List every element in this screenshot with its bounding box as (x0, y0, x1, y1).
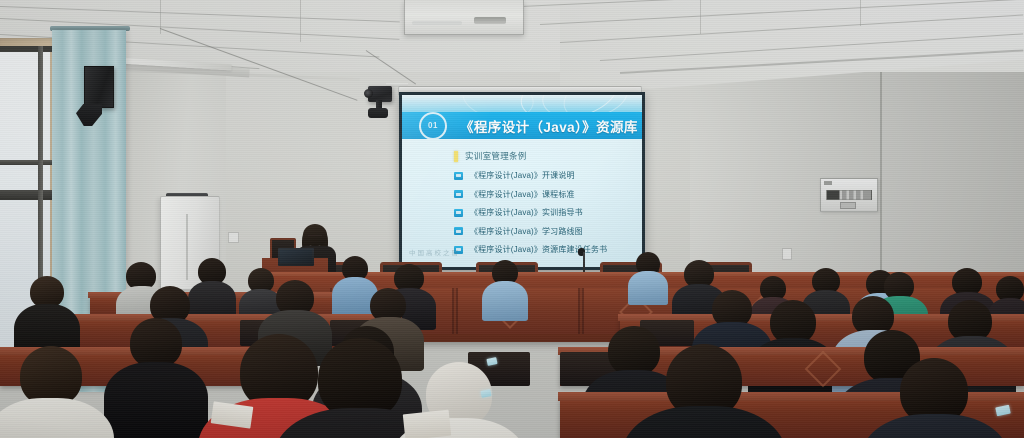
slide-bullet-label: 《程序设计(Java)》资源库建设任务书 (470, 244, 607, 255)
wall-outlet (782, 248, 792, 260)
slide-section-heading: 实训室管理条例 (465, 150, 527, 162)
person-head (130, 318, 182, 368)
window-mullion (0, 190, 54, 200)
panel-label (824, 181, 832, 185)
wall-speaker (84, 66, 114, 108)
ceiling-ac-unit (404, 0, 524, 35)
panel-button[interactable] (840, 202, 856, 209)
slide-bullet-item: 《程序设计(Java)》实训指导书 (454, 207, 642, 218)
ceiling-tile-line-vertical (300, 0, 301, 42)
slide-bullet-label: 《程序设计(Java)》实训指导书 (470, 207, 583, 218)
slide-bullet-item: 《程序设计(Java)》学习路线图 (454, 226, 642, 237)
slide-badge-number: 01 (428, 121, 438, 130)
laptop-screen (280, 250, 312, 263)
slide-swirl (557, 95, 642, 113)
slide-title-bar: 01 《程序设计（Java）》资源库 (402, 112, 642, 139)
slide-section-badge: 01 (419, 112, 447, 140)
slide-section-heading-row: 实训室管理条例 (454, 150, 642, 162)
floor-ac-seam (186, 214, 188, 280)
slide-title: 《程序设计（Java）》资源库 (460, 116, 638, 136)
slide-decorative-band (402, 95, 642, 113)
presenter-glasses-icon (308, 235, 322, 239)
window-sash (0, 46, 54, 52)
person-head (20, 346, 82, 406)
slide-bullet-label: 《程序设计(Java)》开课说明 (470, 170, 575, 181)
panel-breakers[interactable] (826, 190, 872, 200)
ceiling-ac-vent (474, 17, 506, 24)
document-icon (454, 190, 463, 198)
document-icon (454, 172, 463, 180)
ceiling-ac-strip (412, 21, 462, 25)
window-mullion (0, 160, 54, 165)
person-body (482, 281, 528, 321)
ceiling-tile-line-vertical (700, 0, 701, 34)
ceiling-tile-line-vertical (860, 0, 861, 26)
slide-watermark: 中国高校之窗 (409, 247, 460, 257)
slide-bullet-item: 《程序设计(Java)》开课说明 (454, 170, 642, 181)
person-head (608, 326, 660, 376)
slide-bullet-label: 《程序设计(Java)》学习路线图 (470, 226, 583, 237)
paper-handout (403, 410, 451, 438)
slide-bullet-label: 《程序设计(Java)》课程标准 (470, 189, 575, 200)
person-body (628, 271, 668, 305)
projector-mount (368, 108, 388, 118)
slide-bullet-item: 《程序设计(Java)》资源库建设任务书 (454, 244, 642, 255)
person-body (104, 362, 208, 438)
projector-lens-icon (364, 89, 373, 98)
heading-accent-bar (454, 151, 458, 162)
projection-screen: 01 《程序设计（Java）》资源库 实训室管理条例 《程序设计(Java)》开… (399, 92, 645, 270)
slide-body: 实训室管理条例 《程序设计(Java)》开课说明 《程序设计(Java)》课程标… (402, 139, 642, 267)
wall-switch[interactable] (228, 232, 239, 243)
document-icon (454, 209, 463, 217)
slide-bullet-item: 《程序设计(Java)》课程标准 (454, 189, 642, 200)
slide-surface: 01 《程序设计（Java）》资源库 实训室管理条例 《程序设计(Java)》开… (402, 95, 642, 267)
document-icon (454, 227, 463, 235)
classroom-photo: 01 《程序设计（Java）》资源库 实训室管理条例 《程序设计(Java)》开… (0, 0, 1024, 438)
